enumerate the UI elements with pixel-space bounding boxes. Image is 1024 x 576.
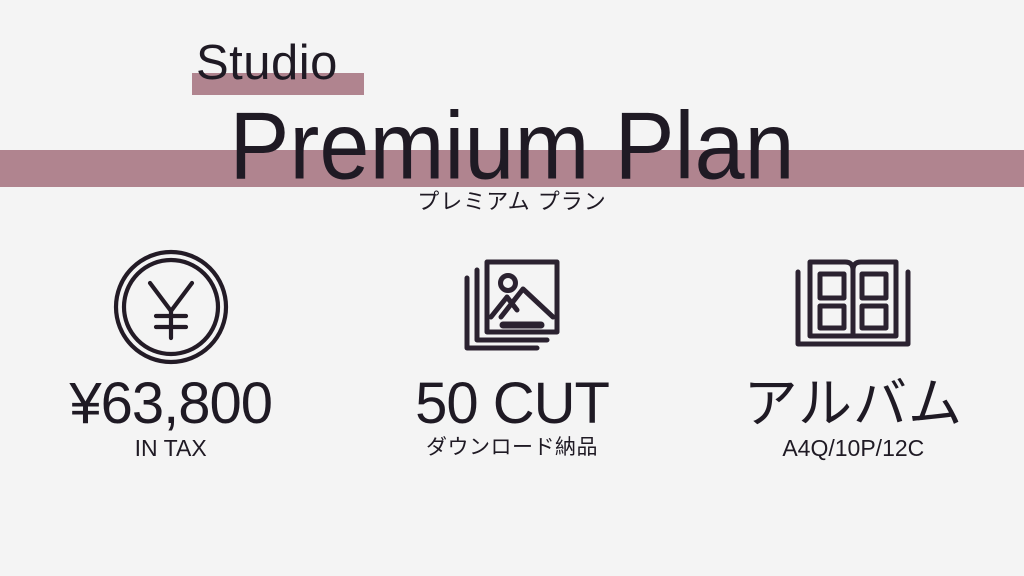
feature-value-cuts: 50 CUT bbox=[415, 372, 609, 436]
plan-slide: Studio Premium Plan プレミアム プラン ¥63,800 IN… bbox=[0, 0, 1024, 576]
page-subtitle: プレミアム プラン bbox=[0, 188, 1024, 216]
feature-note-cuts: ダウンロード納品 bbox=[426, 434, 598, 462]
feature-price: ¥63,800 IN TAX bbox=[1, 248, 341, 462]
yen-coin-icon bbox=[112, 248, 230, 366]
open-album-icon bbox=[790, 248, 916, 366]
header: Studio Premium Plan プレミアム プラン bbox=[0, 0, 1024, 230]
page-title: Premium Plan bbox=[0, 96, 1024, 198]
feature-value-album: アルバム bbox=[744, 372, 963, 436]
feature-value-price: ¥63,800 bbox=[69, 372, 272, 436]
feature-note-price: IN TAX bbox=[135, 434, 207, 462]
eyebrow-text: Studio bbox=[196, 33, 338, 93]
feature-cuts: 50 CUT ダウンロード納品 bbox=[342, 248, 682, 462]
feature-note-album: A4Q/10P/12C bbox=[782, 434, 924, 462]
feature-list: ¥63,800 IN TAX bbox=[0, 248, 1024, 488]
photo-stack-icon bbox=[453, 248, 571, 366]
feature-album: アルバム A4Q/10P/12C bbox=[683, 248, 1023, 462]
